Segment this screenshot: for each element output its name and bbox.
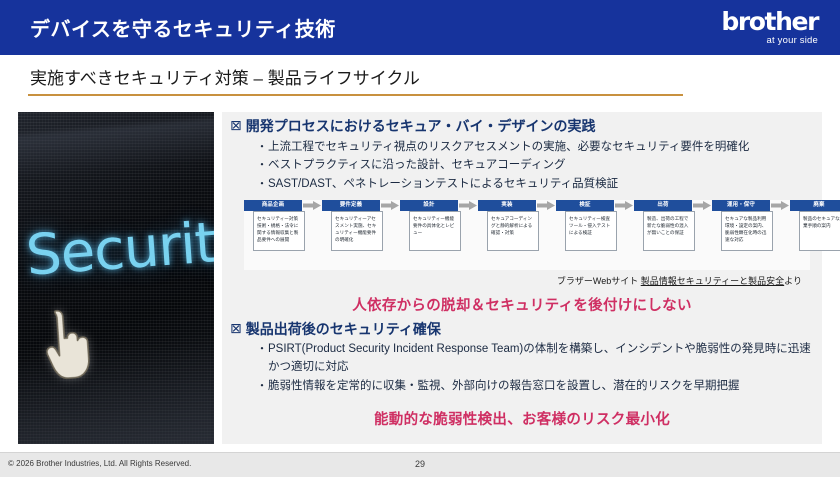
page-title: デバイスを守るセキュリティ技術 — [30, 13, 336, 42]
stage-title: 設計 — [400, 200, 458, 211]
stage-description: セキュリティーアセスメント実施、セキュリティー機能要件の明確化 — [331, 211, 383, 251]
product-lifecycle-diagram: 商品企画 セキュリティー対策技術・規格・法令に関する情報収集と製品要件への展開 … — [244, 200, 810, 270]
heading-marker-icon: ⊠ — [230, 118, 242, 136]
bullet-dot-icon: ・ — [256, 341, 268, 358]
section-title-block: 実施すべきセキュリティ対策 – 製品ライフサイクル — [30, 64, 670, 96]
diagram-source-caption: ブラザーWebサイト 製品情報セキュリティーと製品安全より — [222, 274, 802, 287]
list-item: ・ PSIRT(Product Security Incident Respon… — [256, 341, 822, 377]
lifecycle-flow: 商品企画 セキュリティー対策技術・規格・法令に関する情報収集と製品要件への展開 … — [244, 200, 810, 270]
stage-description: 製造、出荷の工程で新たな脆弱性の混入が無いことの保証 — [643, 211, 695, 251]
heading-marker-icon: ⊠ — [230, 321, 242, 339]
stage-title: 出荷 — [634, 200, 692, 211]
caption-link[interactable]: 製品情報セキュリティーと製品安全 — [641, 276, 784, 286]
heading-post-shipment-security: ⊠ 製品出荷後のセキュリティ確保 — [230, 321, 822, 339]
stage-description: セキュアな製品利用環境・設定の案内、脆弱性顕在化時の迅速な対応 — [721, 211, 773, 251]
caption-prefix: ブラザーWebサイト — [557, 276, 641, 286]
lifecycle-stage-verification: 検証 セキュリティー検査ツール・侵入テストによる検証 — [556, 200, 614, 211]
bullet-dot-icon: ・ — [256, 139, 268, 156]
flow-arrow-icon — [692, 200, 712, 211]
flow-arrow-icon — [770, 200, 790, 211]
stage-description: セキュリティー検査ツール・侵入テストによる検証 — [565, 211, 617, 251]
lifecycle-stage-implementation: 実装 セキュアコーディングと静的解析による確認・対策 — [478, 200, 536, 211]
brother-logo: brother at your side — [721, 9, 818, 46]
stage-description: セキュアコーディングと静的解析による確認・対策 — [487, 211, 539, 251]
logo-tagline: at your side — [721, 36, 818, 46]
hand-cursor-icon — [43, 306, 94, 388]
stage-title: 商品企画 — [244, 200, 302, 211]
stage-description: 製品のセキュアな廃棄手順の案内 — [799, 211, 840, 251]
section-title: 実施すべきセキュリティ対策 – 製品ライフサイクル — [30, 64, 670, 94]
heading-text: 開発プロセスにおけるセキュア・バイ・デザインの実践 — [246, 118, 596, 136]
section-title-underline — [28, 94, 683, 96]
list-item: ・ SAST/DAST、ペネトレーションテストによるセキュリティ品質検証 — [256, 176, 822, 194]
flow-arrow-icon — [458, 200, 478, 211]
lifecycle-stage-design: 設計 セキュリティー機能要件の具体化とレビュー — [400, 200, 458, 211]
caption-suffix: より — [784, 276, 802, 286]
lifecycle-stage-planning: 商品企画 セキュリティー対策技術・規格・法令に関する情報収集と製品要件への展開 — [244, 200, 302, 211]
page-number: 29 — [0, 459, 840, 469]
flow-arrow-icon — [614, 200, 634, 211]
flow-arrow-icon — [536, 200, 556, 211]
heading-development-process: ⊠ 開発プロセスにおけるセキュア・バイ・デザインの実践 — [230, 118, 822, 136]
flow-arrow-icon — [302, 200, 322, 211]
list-item-label: 脆弱性情報を定常的に収集・監視、外部向けの報告窓口を設置し、潜在的リスクを早期把… — [268, 378, 822, 396]
bullet-list-development: ・ 上流工程でセキュリティ視点のリスクアセスメントの実施、必要なセキュリティ要件… — [256, 139, 822, 194]
lifecycle-stage-disposal: 廃棄 製品のセキュアな廃棄手順の案内 — [790, 200, 840, 211]
heading-text: 製品出荷後のセキュリティ確保 — [246, 321, 441, 339]
slide-header: デバイスを守るセキュリティ技術 brother at your side — [0, 0, 840, 55]
list-item-label: 上流工程でセキュリティ視点のリスクアセスメントの実施、必要なセキュリティ要件を明… — [268, 139, 822, 157]
stage-description: セキュリティー対策技術・規格・法令に関する情報収集と製品要件への展開 — [253, 211, 305, 251]
lifecycle-stage-shipment: 出荷 製造、出荷の工程で新たな脆弱性の混入が無いことの保証 — [634, 200, 692, 211]
bullet-dot-icon: ・ — [256, 378, 268, 395]
security-photo: Security — [18, 112, 214, 444]
bullet-dot-icon: ・ — [256, 157, 268, 174]
bullet-list-post-shipment: ・ PSIRT(Product Security Incident Respon… — [256, 341, 822, 395]
stage-title: 運用・保守 — [712, 200, 770, 211]
flow-arrow-icon — [380, 200, 400, 211]
content-panel: ⊠ 開発プロセスにおけるセキュア・バイ・デザインの実践 ・ 上流工程でセキュリテ… — [222, 112, 822, 444]
list-item-label: PSIRT(Product Security Incident Response… — [268, 341, 822, 377]
list-item-label: ベストプラクティスに沿った設計、セキュアコーディング — [268, 157, 822, 175]
stage-title: 廃棄 — [790, 200, 840, 211]
list-item: ・ 脆弱性情報を定常的に収集・監視、外部向けの報告窓口を設置し、潜在的リスクを早… — [256, 378, 822, 396]
highlight-message-first: 人依存からの脱却＆セキュリティを後付けにしない — [222, 294, 822, 315]
stage-title: 実装 — [478, 200, 536, 211]
lifecycle-stage-operation: 運用・保守 セキュアな製品利用環境・設定の案内、脆弱性顕在化時の迅速な対応 — [712, 200, 770, 211]
stage-title: 要件定義 — [322, 200, 380, 211]
lifecycle-stage-requirements: 要件定義 セキュリティーアセスメント実施、セキュリティー機能要件の明確化 — [322, 200, 380, 211]
logo-wordmark: brother — [721, 9, 818, 34]
list-item: ・ 上流工程でセキュリティ視点のリスクアセスメントの実施、必要なセキュリティ要件… — [256, 139, 822, 157]
highlight-message-second: 能動的な脆弱性検出、お客様のリスク最小化 — [222, 408, 822, 429]
list-item: ・ ベストプラクティスに沿った設計、セキュアコーディング — [256, 157, 822, 175]
stage-title: 検証 — [556, 200, 614, 211]
bullet-dot-icon: ・ — [256, 176, 268, 193]
stage-description: セキュリティー機能要件の具体化とレビュー — [409, 211, 461, 251]
header-divider — [0, 55, 840, 58]
list-item-label: SAST/DAST、ペネトレーションテストによるセキュリティ品質検証 — [268, 176, 822, 194]
slide-footer: © 2026 Brother Industries, Ltd. All Righ… — [0, 452, 840, 477]
